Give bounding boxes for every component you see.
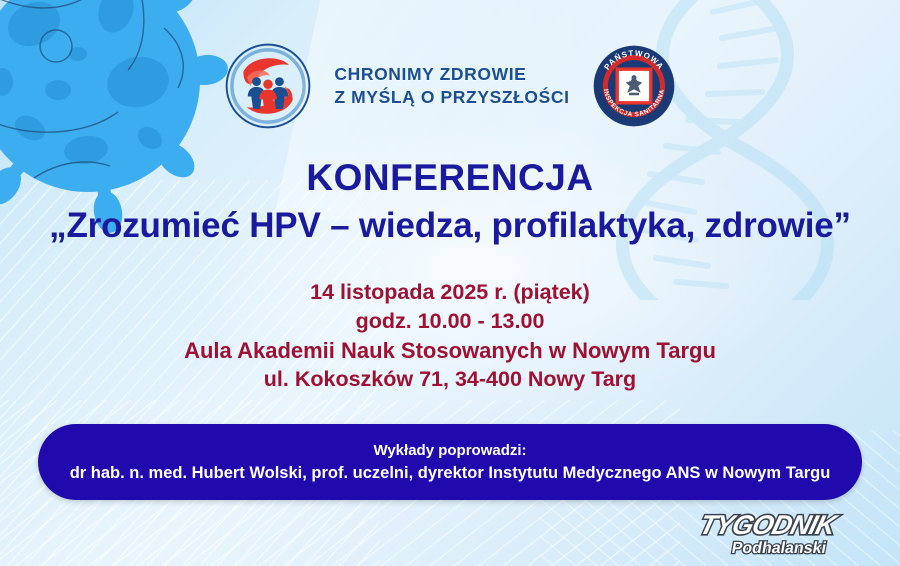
header-row: CHRONIMY ZDROWIE Z MYŚLĄ O PRZYSZŁOŚCI P…: [0, 34, 900, 138]
event-venue: Aula Akademii Nauk Stosowanych w Nowym T…: [0, 336, 900, 365]
watermark-secondary-text: Podhalanski: [730, 539, 827, 557]
event-time: godz. 10.00 - 13.00: [0, 307, 900, 336]
tygodnik-podhalanski-watermark: TYGODNIK Podhalanski: [678, 502, 888, 560]
slogan-line-2: Z MYŚLĄ O PRZYSZŁOŚCI: [334, 86, 569, 109]
speaker-name-label: dr hab. n. med. Hubert Wolski, prof. ucz…: [70, 464, 831, 483]
conference-subtitle: „Zrozumieć HPV – wiedza, profilaktyka, z…: [0, 206, 900, 246]
speaker-intro-label: Wykłady poprowadzi:: [373, 442, 526, 459]
speaker-banner: Wykłady poprowadzi: dr hab. n. med. Hube…: [38, 424, 862, 500]
slogan-line-1: CHRONIMY ZDROWIE: [334, 63, 569, 86]
header-slogan: CHRONIMY ZDROWIE Z MYŚLĄ O PRZYSZŁOŚCI: [334, 63, 569, 109]
page-title: KONFERENCJA: [0, 157, 900, 199]
event-address: ul. Kokoszków 71, 34-400 Nowy Targ: [0, 365, 900, 394]
panstwowa-inspekcja-sanitarna-logo-icon: PAŃSTWOWA INSPEKCJA SANITARNA: [592, 44, 676, 128]
watermark-primary-text: TYGODNIK: [697, 509, 842, 540]
event-date: 14 listopada 2025 r. (piątek): [0, 278, 900, 307]
conference-poster: CHRONIMY ZDROWIE Z MYŚLĄ O PRZYSZŁOŚCI P…: [0, 0, 900, 566]
event-details: 14 listopada 2025 r. (piątek) godz. 10.0…: [0, 278, 900, 394]
chronimy-zdrowie-logo-icon: [224, 42, 312, 130]
